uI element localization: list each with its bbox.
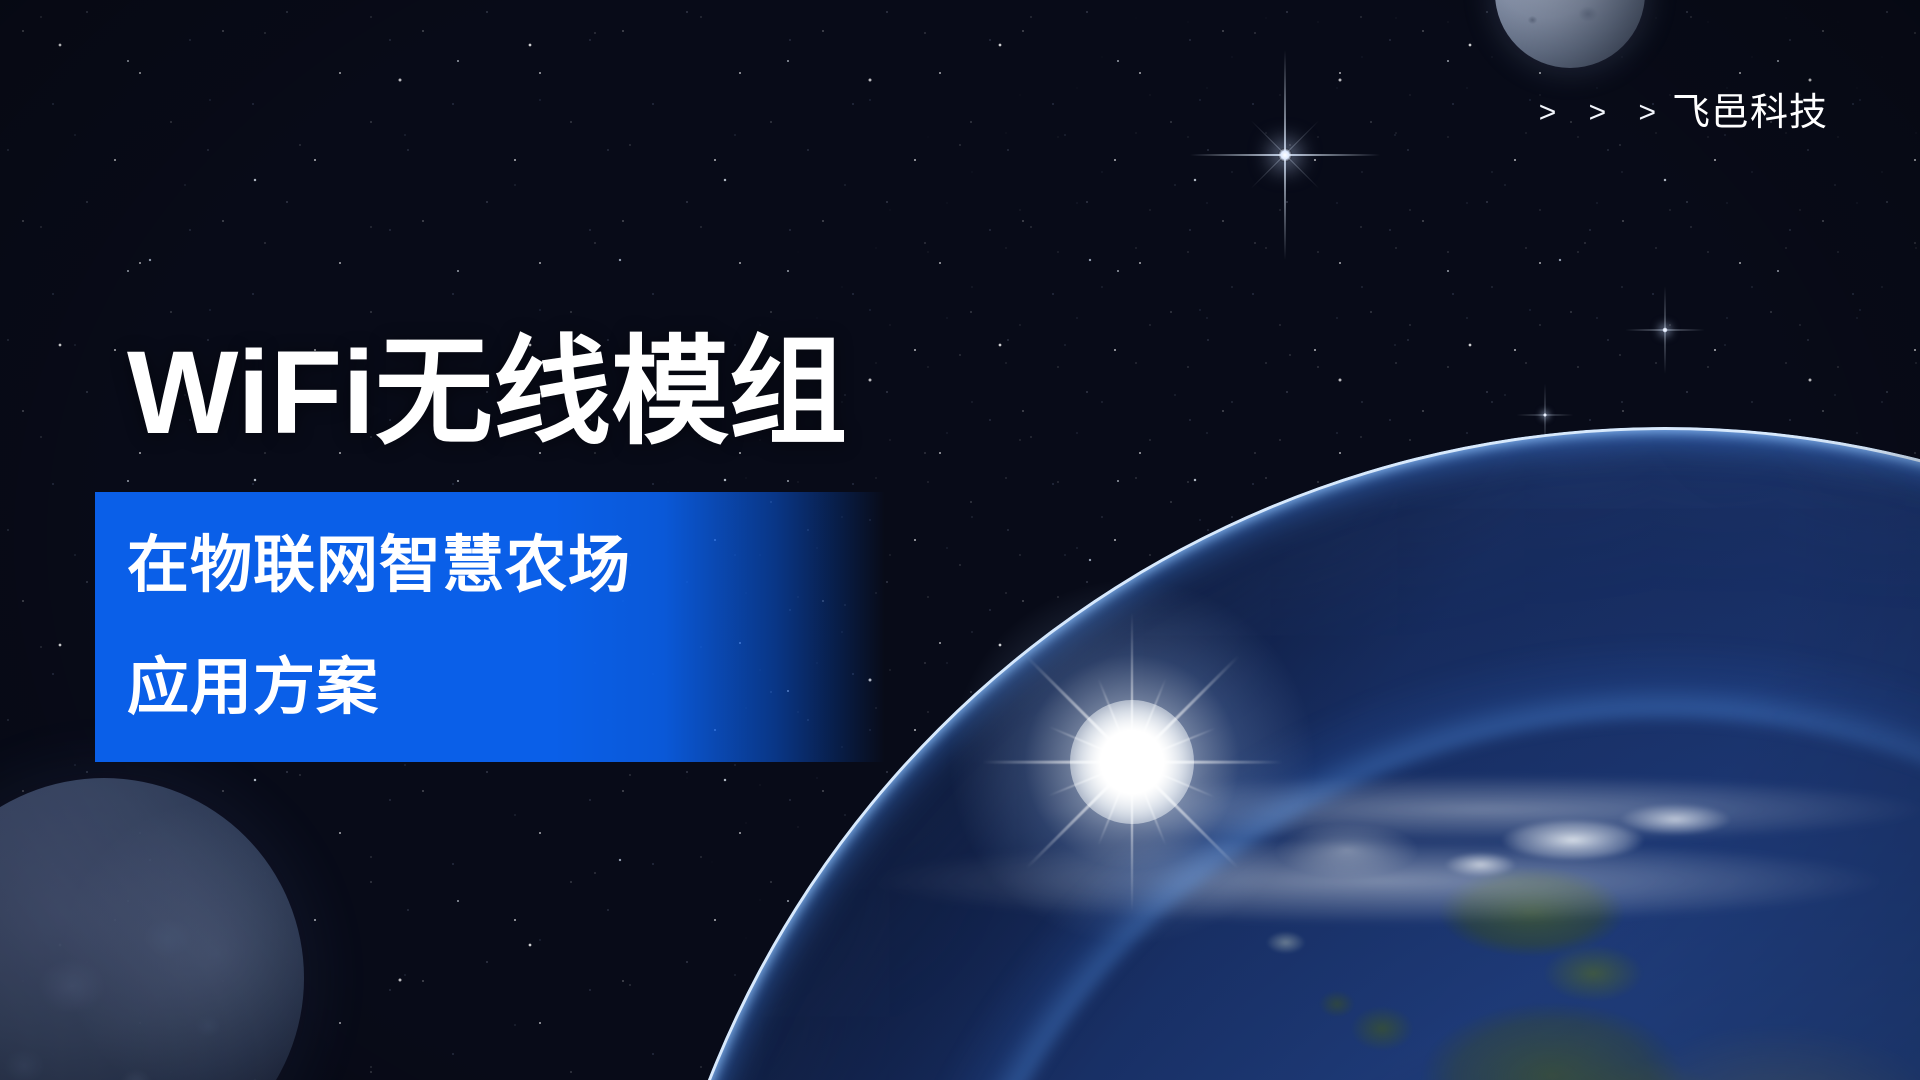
moon-top-right-icon (1495, 0, 1645, 68)
slide-canvas: > > > 飞邑科技 WiFi无线模组 在物联网智慧农场 应用方案 (0, 0, 1920, 1080)
subtitle-line-1: 在物联网智慧农场 (127, 505, 887, 627)
chevron-right-icon: > > > (1539, 98, 1668, 128)
brand-logo[interactable]: > > > 飞邑科技 (1539, 94, 1828, 132)
headline-block: WiFi无线模组 (127, 330, 847, 457)
page-subtitle: 在物联网智慧农场 应用方案 (127, 505, 887, 749)
page-title: WiFi无线模组 (127, 330, 847, 457)
moon-bottom-left-icon (0, 778, 304, 1080)
subtitle-line-2: 应用方案 (127, 627, 887, 749)
brand-name: 飞邑科技 (1672, 94, 1828, 132)
